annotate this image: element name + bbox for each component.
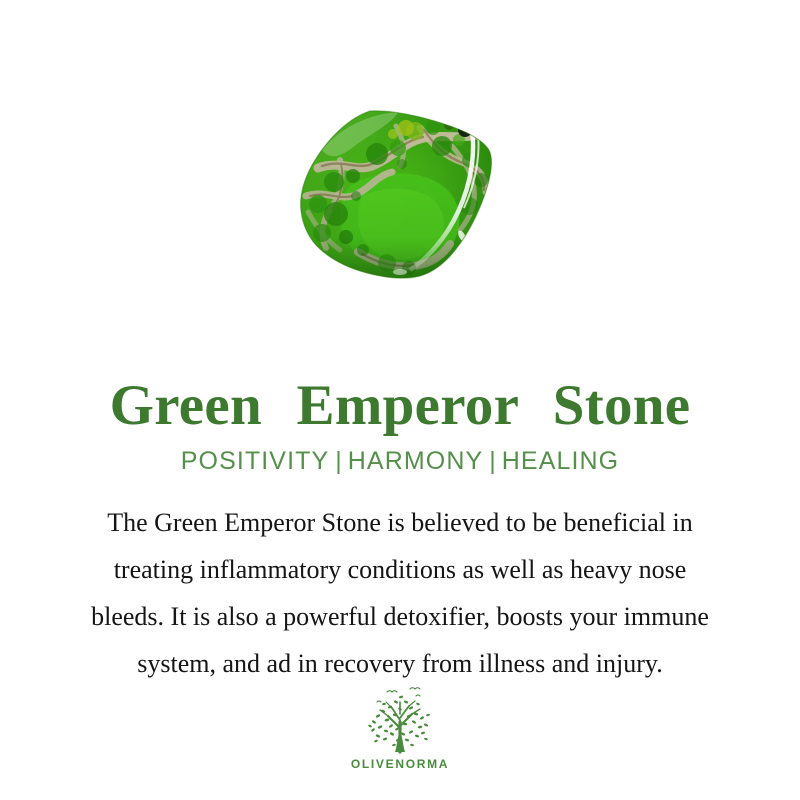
keyword-healing: HEALING bbox=[502, 447, 619, 475]
tree-trunk bbox=[395, 734, 405, 752]
keyword-separator-1: | bbox=[329, 447, 348, 475]
hero-stone-image bbox=[0, 0, 800, 300]
description-paragraph: The Green Emperor Stone is believed to b… bbox=[40, 499, 760, 687]
page-title: Green Emperor Stone bbox=[0, 374, 800, 438]
description-line: bleeds. It is also a powerful detoxifier… bbox=[40, 593, 760, 640]
keyword-separator-2: | bbox=[483, 447, 502, 475]
bird-icon bbox=[377, 688, 420, 702]
keyword-harmony: HARMONY bbox=[348, 447, 483, 475]
description-line: system, and ad in recovery from illness … bbox=[40, 640, 760, 687]
brand-logo: OLIVENORMA bbox=[0, 682, 800, 771]
description-line: treating inflammatory conditions as well… bbox=[40, 546, 760, 593]
olive-tree-icon bbox=[354, 682, 446, 756]
keyword-positivity: POSITIVITY bbox=[181, 447, 330, 475]
stone-body bbox=[290, 100, 505, 290]
keyword-tagline: POSITIVITY|HARMONY|HEALING bbox=[0, 446, 800, 476]
brand-wordmark: OLIVENORMA bbox=[351, 757, 449, 771]
description-line: The Green Emperor Stone is believed to b… bbox=[40, 499, 760, 546]
green-emperor-stone-illustration bbox=[0, 0, 800, 300]
product-info-poster: Green Emperor Stone POSITIVITY|HARMONY|H… bbox=[0, 0, 800, 800]
